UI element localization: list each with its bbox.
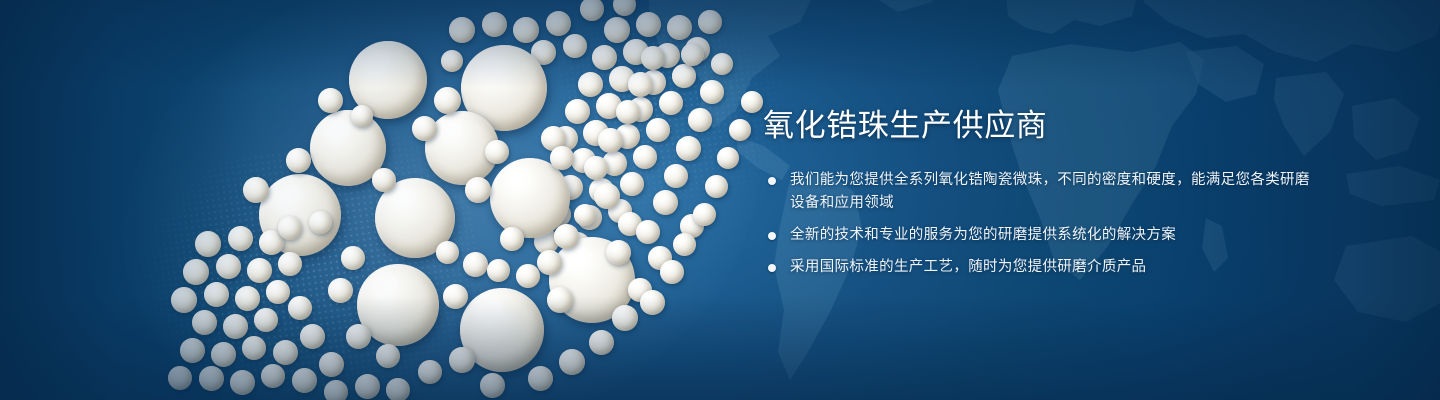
list-item: 全新的技术和专业的服务为您的研磨提供系统化的解决方案 [763,224,1323,247]
list-item: 采用国际标准的生产工艺，随时为您提供研磨介质产品 [763,256,1323,279]
list-item-label: 全新的技术和专业的服务为您的研磨提供系统化的解决方案 [790,227,1176,243]
hero-banner: 氧化锆珠生产供应商 我们能为您提供全系列氧化锆陶瓷微珠，不同的密度和硬度，能满足… [0,0,1440,400]
list-item-label: 我们能为您提供全系列氧化锆陶瓷微珠，不同的密度和硬度，能满足您各类研磨设备和应用… [790,172,1310,211]
list-item-label: 采用国际标准的生产工艺，随时为您提供研磨介质产品 [790,259,1146,275]
banner-copy: 氧化锆珠生产供应商 我们能为您提供全系列氧化锆陶瓷微珠，不同的密度和硬度，能满足… [763,106,1323,279]
bullet-dot-icon [768,264,776,272]
list-item: 我们能为您提供全系列氧化锆陶瓷微珠，不同的密度和硬度，能满足您各类研磨设备和应用… [763,169,1323,215]
feature-list: 我们能为您提供全系列氧化锆陶瓷微珠，不同的密度和硬度，能满足您各类研磨设备和应用… [763,169,1323,279]
bullet-dot-icon [768,177,776,185]
page-title: 氧化锆珠生产供应商 [763,106,1323,146]
bullet-dot-icon [768,232,776,240]
